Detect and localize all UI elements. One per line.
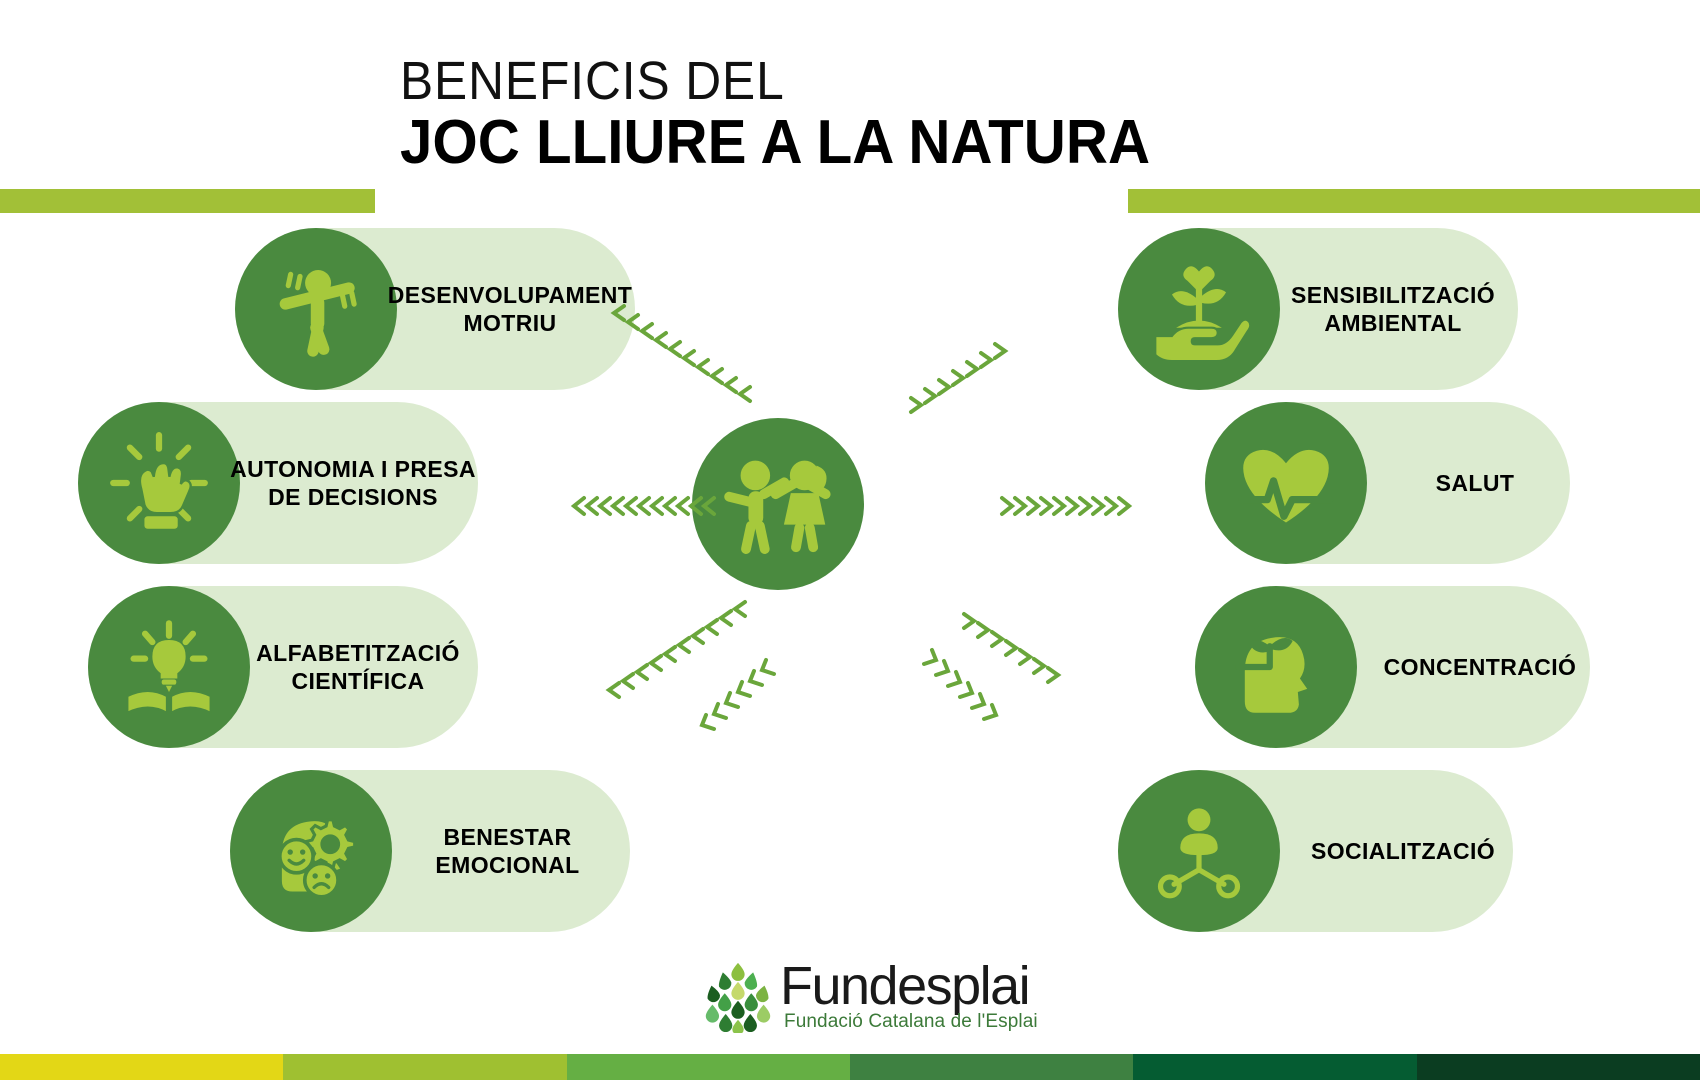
bar-segment-6 (1417, 1054, 1700, 1080)
infographic-canvas: BENEFICIS DEL JOC LLIURE A LA NATURA DES… (0, 0, 1700, 1080)
benefit-item-alfabetitzacio[interactable]: ALFABETITZACIÓ CIENTÍFICA (88, 586, 478, 748)
benefit-item-desenvolupament-motriu[interactable]: DESENVOLUPAMENT MOTRIU (235, 228, 635, 390)
benefit-item-concentracio[interactable]: CONCENTRACIÓ (1195, 586, 1590, 748)
hand-holding-plant-icon (1118, 228, 1280, 390)
people-network-icon (1118, 770, 1280, 932)
bar-segment-3 (567, 1054, 850, 1080)
heart-heartbeat-icon (1205, 402, 1367, 564)
item-label: BENESTAR EMOCIONAL (385, 770, 630, 932)
item-label: SALUT (1380, 402, 1570, 564)
bar-segment-4 (850, 1054, 1133, 1080)
chevron-trail-bottom-left (700, 660, 790, 740)
stretching-person-icon (235, 228, 397, 390)
head-with-plant-icon (1195, 586, 1357, 748)
item-label: SOCIALITZACIÓ (1293, 770, 1513, 932)
title-line-2: JOC LLIURE A LA NATURA (400, 110, 1150, 177)
fundesplai-logo[interactable]: Fundesplai Fundació Catalana de l'Esplai (700, 955, 1060, 1045)
chevron-trail-bottom-right (920, 650, 1020, 750)
item-label: SENSIBILITZACIÓ AMBIENTAL (1268, 228, 1518, 390)
chevron-trail-upper-left (608, 300, 778, 410)
item-label: CONCENTRACIÓ (1370, 586, 1590, 748)
chevron-trail-right (1000, 493, 1150, 519)
title-bar-left (0, 189, 375, 213)
bottom-color-bar (0, 1054, 1700, 1080)
title-line-1: BENEFICIS DEL (400, 52, 785, 110)
head-emotions-gear-icon (230, 770, 392, 932)
logo-wordmark: Fundesplai (780, 955, 1029, 1017)
benefit-item-sensibilitzacio-ambiental[interactable]: SENSIBILITZACIÓ AMBIENTAL (1118, 228, 1518, 390)
bar-segment-5 (1133, 1054, 1416, 1080)
leaf-cluster-icon (700, 961, 776, 1033)
bar-segment-2 (283, 1054, 566, 1080)
chevron-trail-upper-right (905, 330, 1035, 420)
benefit-item-socialitzacio[interactable]: SOCIALITZACIÓ (1118, 770, 1513, 932)
item-label: AUTONOMIA I PRESA DE DECISIONS (228, 402, 478, 564)
title-bar-right (1128, 189, 1700, 213)
lightbulb-open-book-icon (88, 586, 250, 748)
title-block: BENEFICIS DEL JOC LLIURE A LA NATURA (0, 52, 1700, 192)
benefit-item-salut[interactable]: SALUT (1205, 402, 1570, 564)
benefit-item-autonomia[interactable]: AUTONOMIA I PRESA DE DECISIONS (78, 402, 478, 564)
raised-fist-icon (78, 402, 240, 564)
item-label: DESENVOLUPAMENT MOTRIU (385, 228, 635, 390)
benefit-item-benestar-emocional[interactable]: BENESTAR EMOCIONAL (230, 770, 630, 932)
logo-tagline: Fundació Catalana de l'Esplai (784, 1011, 1038, 1033)
chevron-trail-left (570, 493, 730, 519)
item-label: ALFABETITZACIÓ CIENTÍFICA (238, 586, 478, 748)
bar-segment-1 (0, 1054, 283, 1080)
